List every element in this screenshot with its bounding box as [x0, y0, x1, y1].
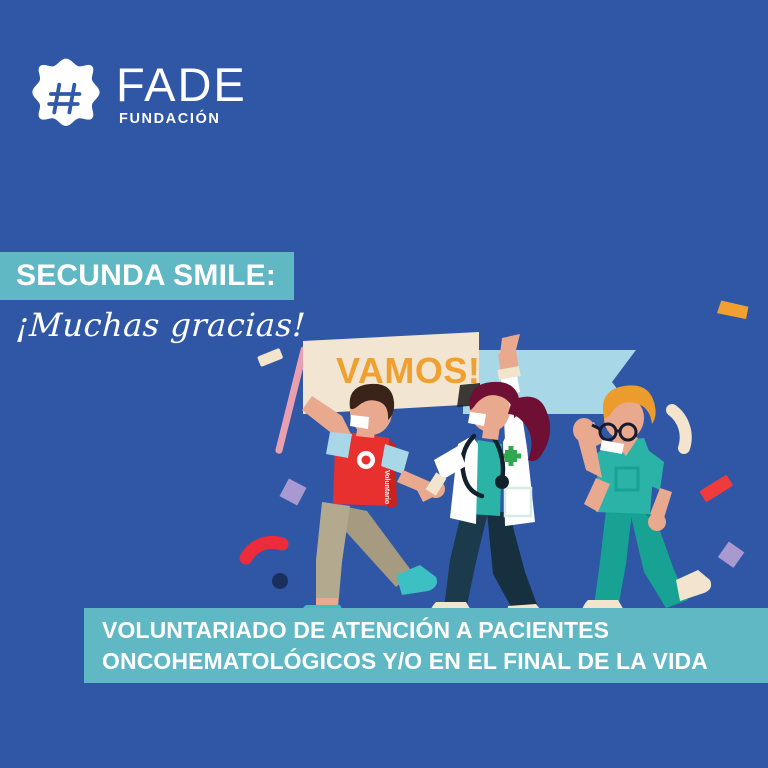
hash-flower-logo-icon [24, 57, 108, 141]
brand-tagline: FUNDACIÓN [119, 111, 247, 127]
banner-line-1: VOLUNTARIADO DE ATENCIÓN A PACIENTES [102, 615, 768, 646]
figure-nurse-man [573, 385, 711, 619]
subtitle-text: ¡Muchas gracias! [15, 306, 307, 344]
volunteer-mask [350, 415, 369, 429]
purple-diamond-right-icon [718, 541, 744, 567]
cream-rect-confetti-icon [257, 348, 283, 367]
navy-dot-confetti-icon [272, 573, 288, 589]
headline-text: SECUNDA SMILE: [16, 259, 276, 293]
cream-arc-confetti-icon [672, 410, 686, 448]
figure-volunteer-man: Voluntario [298, 384, 445, 626]
brand-logo: FADE FUNDACIÓN [24, 55, 264, 147]
red-rect-confetti-icon [699, 474, 733, 502]
vest-text: Voluntario [383, 470, 390, 504]
nurse-shoe-back [676, 570, 711, 601]
brand-name: FADE [116, 63, 247, 108]
flag-text: VAMOS! [336, 350, 480, 391]
orange-wedge-confetti-icon [715, 297, 750, 323]
bottom-banner: VOLUNTARIADO DE ATENCIÓN A PACIENTES ONC… [84, 608, 768, 683]
purple-diamond-left-icon [279, 478, 306, 505]
volunteer-sleeve-left [326, 432, 352, 458]
doctor-mask [468, 412, 486, 426]
red-arc-confetti-icon [246, 542, 282, 558]
headline-band: SECUNDA SMILE: [0, 252, 294, 300]
poster-canvas: VAMOS! Voluntario [0, 0, 768, 768]
banner-line-2: ONCOHEMATOLÓGICOS Y/O EN EL FINAL DE LA … [102, 646, 768, 677]
